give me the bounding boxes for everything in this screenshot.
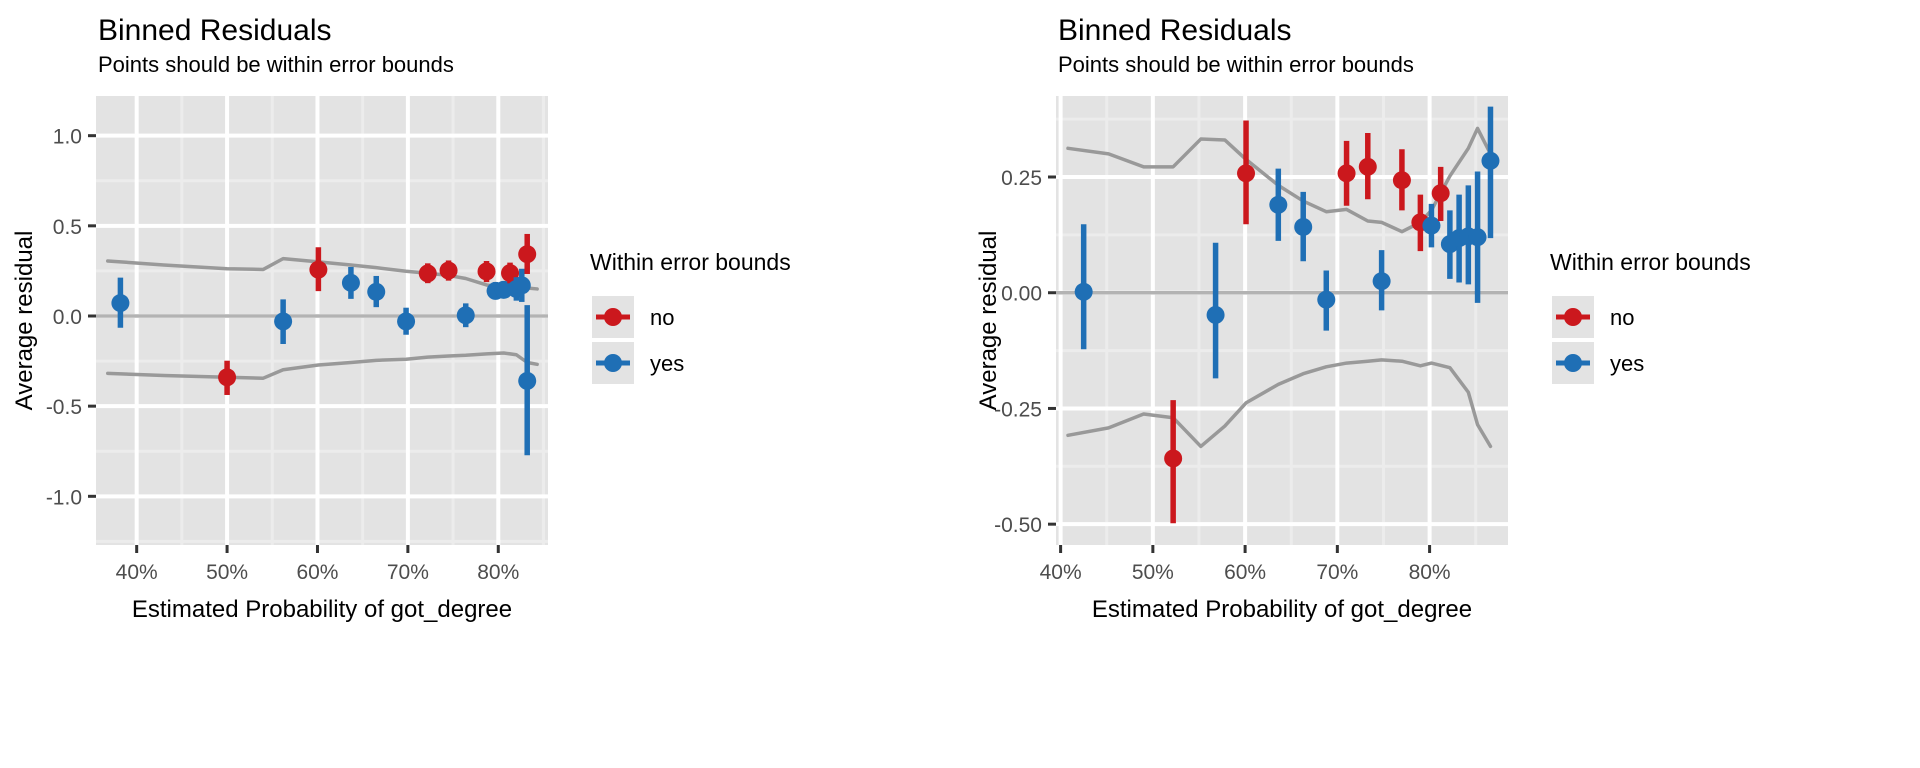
binned-residuals-figure: Binned ResidualsPoints should be within … bbox=[0, 0, 1920, 768]
legend-item-yes[interactable]: yes bbox=[1552, 342, 1644, 384]
x-tick-label: 40% bbox=[1040, 561, 1082, 584]
y-axis-label: Average residual bbox=[975, 231, 1002, 411]
point-marker bbox=[440, 262, 458, 280]
plot-title: Binned Residuals bbox=[98, 14, 331, 47]
legend-item-label: no bbox=[1610, 305, 1634, 330]
panel-background bbox=[96, 96, 548, 545]
legend: Within error boundsnoyes bbox=[1550, 249, 1751, 384]
point-marker bbox=[1359, 158, 1377, 176]
legend-title: Within error bounds bbox=[590, 249, 791, 275]
point-marker bbox=[111, 294, 129, 312]
point-marker bbox=[457, 306, 475, 324]
point-marker bbox=[1294, 218, 1312, 236]
point-marker bbox=[1469, 228, 1487, 246]
legend-item-label: yes bbox=[1610, 351, 1644, 376]
right-plot-panel: Binned ResidualsPoints should be within … bbox=[960, 0, 1920, 768]
y-axis-label: Average residual bbox=[11, 231, 38, 411]
y-tick-label: 1.0 bbox=[53, 126, 82, 149]
x-tick-label: 60% bbox=[1224, 561, 1266, 584]
legend: Within error boundsnoyes bbox=[590, 249, 791, 384]
point-marker bbox=[419, 264, 437, 282]
point-marker bbox=[513, 276, 531, 294]
point-marker bbox=[1373, 272, 1391, 290]
point-marker bbox=[1422, 217, 1440, 235]
point-marker bbox=[1269, 196, 1287, 214]
point-marker bbox=[1432, 184, 1450, 202]
x-tick-label: 50% bbox=[206, 561, 248, 584]
point-marker bbox=[309, 261, 327, 279]
point-marker bbox=[1338, 164, 1356, 182]
legend-item-yes[interactable]: yes bbox=[592, 342, 684, 384]
x-tick-label: 80% bbox=[477, 561, 519, 584]
point-marker bbox=[397, 312, 415, 330]
point-marker bbox=[1164, 449, 1182, 467]
legend-item-no[interactable]: no bbox=[592, 296, 674, 338]
point-marker bbox=[1317, 291, 1335, 309]
point-marker bbox=[518, 245, 536, 263]
x-tick-label: 70% bbox=[387, 561, 429, 584]
x-axis-label: Estimated Probability of got_degree bbox=[132, 596, 512, 623]
x-tick-label: 60% bbox=[296, 561, 338, 584]
point-marker bbox=[218, 368, 236, 386]
y-tick-label: -0.50 bbox=[994, 514, 1042, 537]
point-marker bbox=[1481, 152, 1499, 170]
point-marker bbox=[1207, 306, 1225, 324]
legend-item-label: no bbox=[650, 305, 674, 330]
y-tick-label: -1.0 bbox=[46, 486, 82, 509]
y-tick-label: 0.5 bbox=[53, 216, 82, 239]
legend-item-no[interactable]: no bbox=[1552, 296, 1634, 338]
point-marker bbox=[274, 312, 292, 330]
y-tick-label: 0.00 bbox=[1001, 283, 1042, 306]
point-marker bbox=[1075, 283, 1093, 301]
x-tick-label: 40% bbox=[116, 561, 158, 584]
point-marker bbox=[478, 262, 496, 280]
legend-item-label: yes bbox=[650, 351, 684, 376]
plot-subtitle: Points should be within error bounds bbox=[98, 52, 454, 77]
y-tick-label: 0.0 bbox=[53, 306, 82, 329]
plot-svg-left: Binned ResidualsPoints should be within … bbox=[0, 0, 960, 768]
point-marker bbox=[518, 372, 536, 390]
legend-key-marker bbox=[604, 354, 622, 372]
point-marker bbox=[1237, 164, 1255, 182]
panel-background bbox=[1056, 96, 1508, 545]
left-plot-panel: Binned ResidualsPoints should be within … bbox=[0, 0, 960, 768]
legend-key-marker bbox=[1564, 308, 1582, 326]
legend-key-marker bbox=[1564, 354, 1582, 372]
x-axis-label: Estimated Probability of got_degree bbox=[1092, 596, 1472, 623]
legend-title: Within error bounds bbox=[1550, 249, 1751, 275]
point-marker bbox=[342, 274, 360, 292]
plot-subtitle: Points should be within error bounds bbox=[1058, 52, 1414, 77]
legend-key-marker bbox=[604, 308, 622, 326]
x-tick-label: 70% bbox=[1316, 561, 1358, 584]
point-marker bbox=[367, 283, 385, 301]
x-tick-label: 50% bbox=[1132, 561, 1174, 584]
x-tick-label: 80% bbox=[1409, 561, 1451, 584]
plot-title: Binned Residuals bbox=[1058, 14, 1291, 47]
plot-svg-right: Binned ResidualsPoints should be within … bbox=[960, 0, 1920, 768]
point-marker bbox=[1393, 171, 1411, 189]
y-tick-label: -0.5 bbox=[46, 396, 82, 419]
y-tick-label: 0.25 bbox=[1001, 167, 1042, 190]
